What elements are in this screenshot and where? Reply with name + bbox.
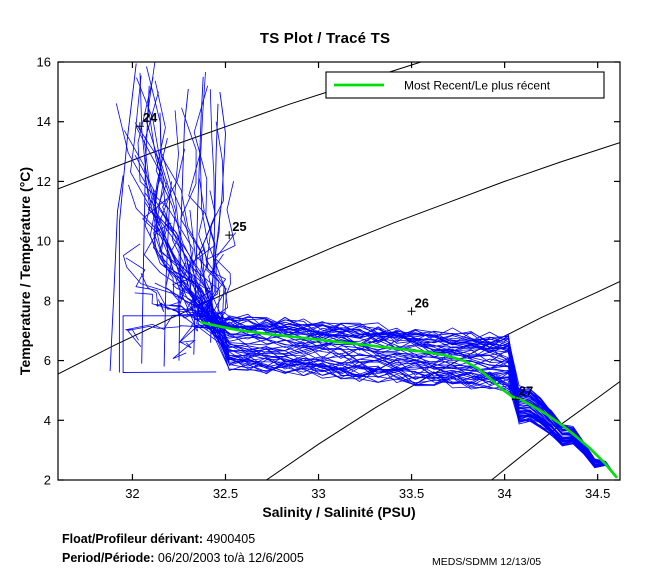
period-value: 06/20/2003 to/à 12/6/2005 [158, 551, 304, 565]
y-tick-label: 12 [37, 174, 51, 189]
x-tick-label: 34.5 [585, 486, 610, 501]
y-tick-label: 2 [44, 473, 51, 488]
x-tick-label: 33.5 [399, 486, 424, 501]
y-tick-label: 14 [37, 114, 51, 129]
y-axis-title: Temperature / Température (°C) [17, 167, 33, 375]
x-tick-label: 32 [125, 486, 139, 501]
isopycnal-label-text: 27 [519, 383, 533, 398]
x-tick-label: 32.5 [213, 486, 238, 501]
isopycnal-label-text: 26 [415, 295, 429, 310]
y-tick-label: 16 [37, 55, 51, 70]
y-tick-label: 6 [44, 353, 51, 368]
period-label: Period/Période: [62, 551, 154, 565]
x-axis-title: Salinity / Salinité (PSU) [262, 504, 415, 520]
isopycnal-label-text: 24 [143, 110, 158, 125]
legend-label-most-recent: Most Recent/Le plus récent [404, 79, 551, 93]
float-label: Float/Profileur dérivant: [62, 532, 203, 546]
footer-metadata: Float/Profileur dérivant: 4900405 Period… [62, 530, 304, 568]
x-tick-label: 34 [497, 486, 511, 501]
y-tick-label: 4 [44, 413, 51, 428]
plot-canvas: 242526273232.53333.53434.5Salinity / Sal… [0, 0, 650, 580]
credit-text: MEDS/SDMM 12/13/05 [432, 556, 541, 568]
float-line: Float/Profileur dérivant: 4900405 [62, 530, 304, 549]
y-tick-label: 10 [37, 234, 51, 249]
x-tick-label: 33 [311, 486, 325, 501]
ts-plot-figure: TS Plot / Tracé TS 242526273232.53333.53… [0, 0, 650, 580]
isopycnal-label-text: 25 [232, 219, 246, 234]
legend: Most Recent/Le plus récent [326, 72, 604, 98]
period-line: Period/Période: 06/20/2003 to/à 12/6/200… [62, 549, 304, 568]
float-value: 4900405 [206, 532, 255, 546]
y-tick-label: 8 [44, 293, 51, 308]
